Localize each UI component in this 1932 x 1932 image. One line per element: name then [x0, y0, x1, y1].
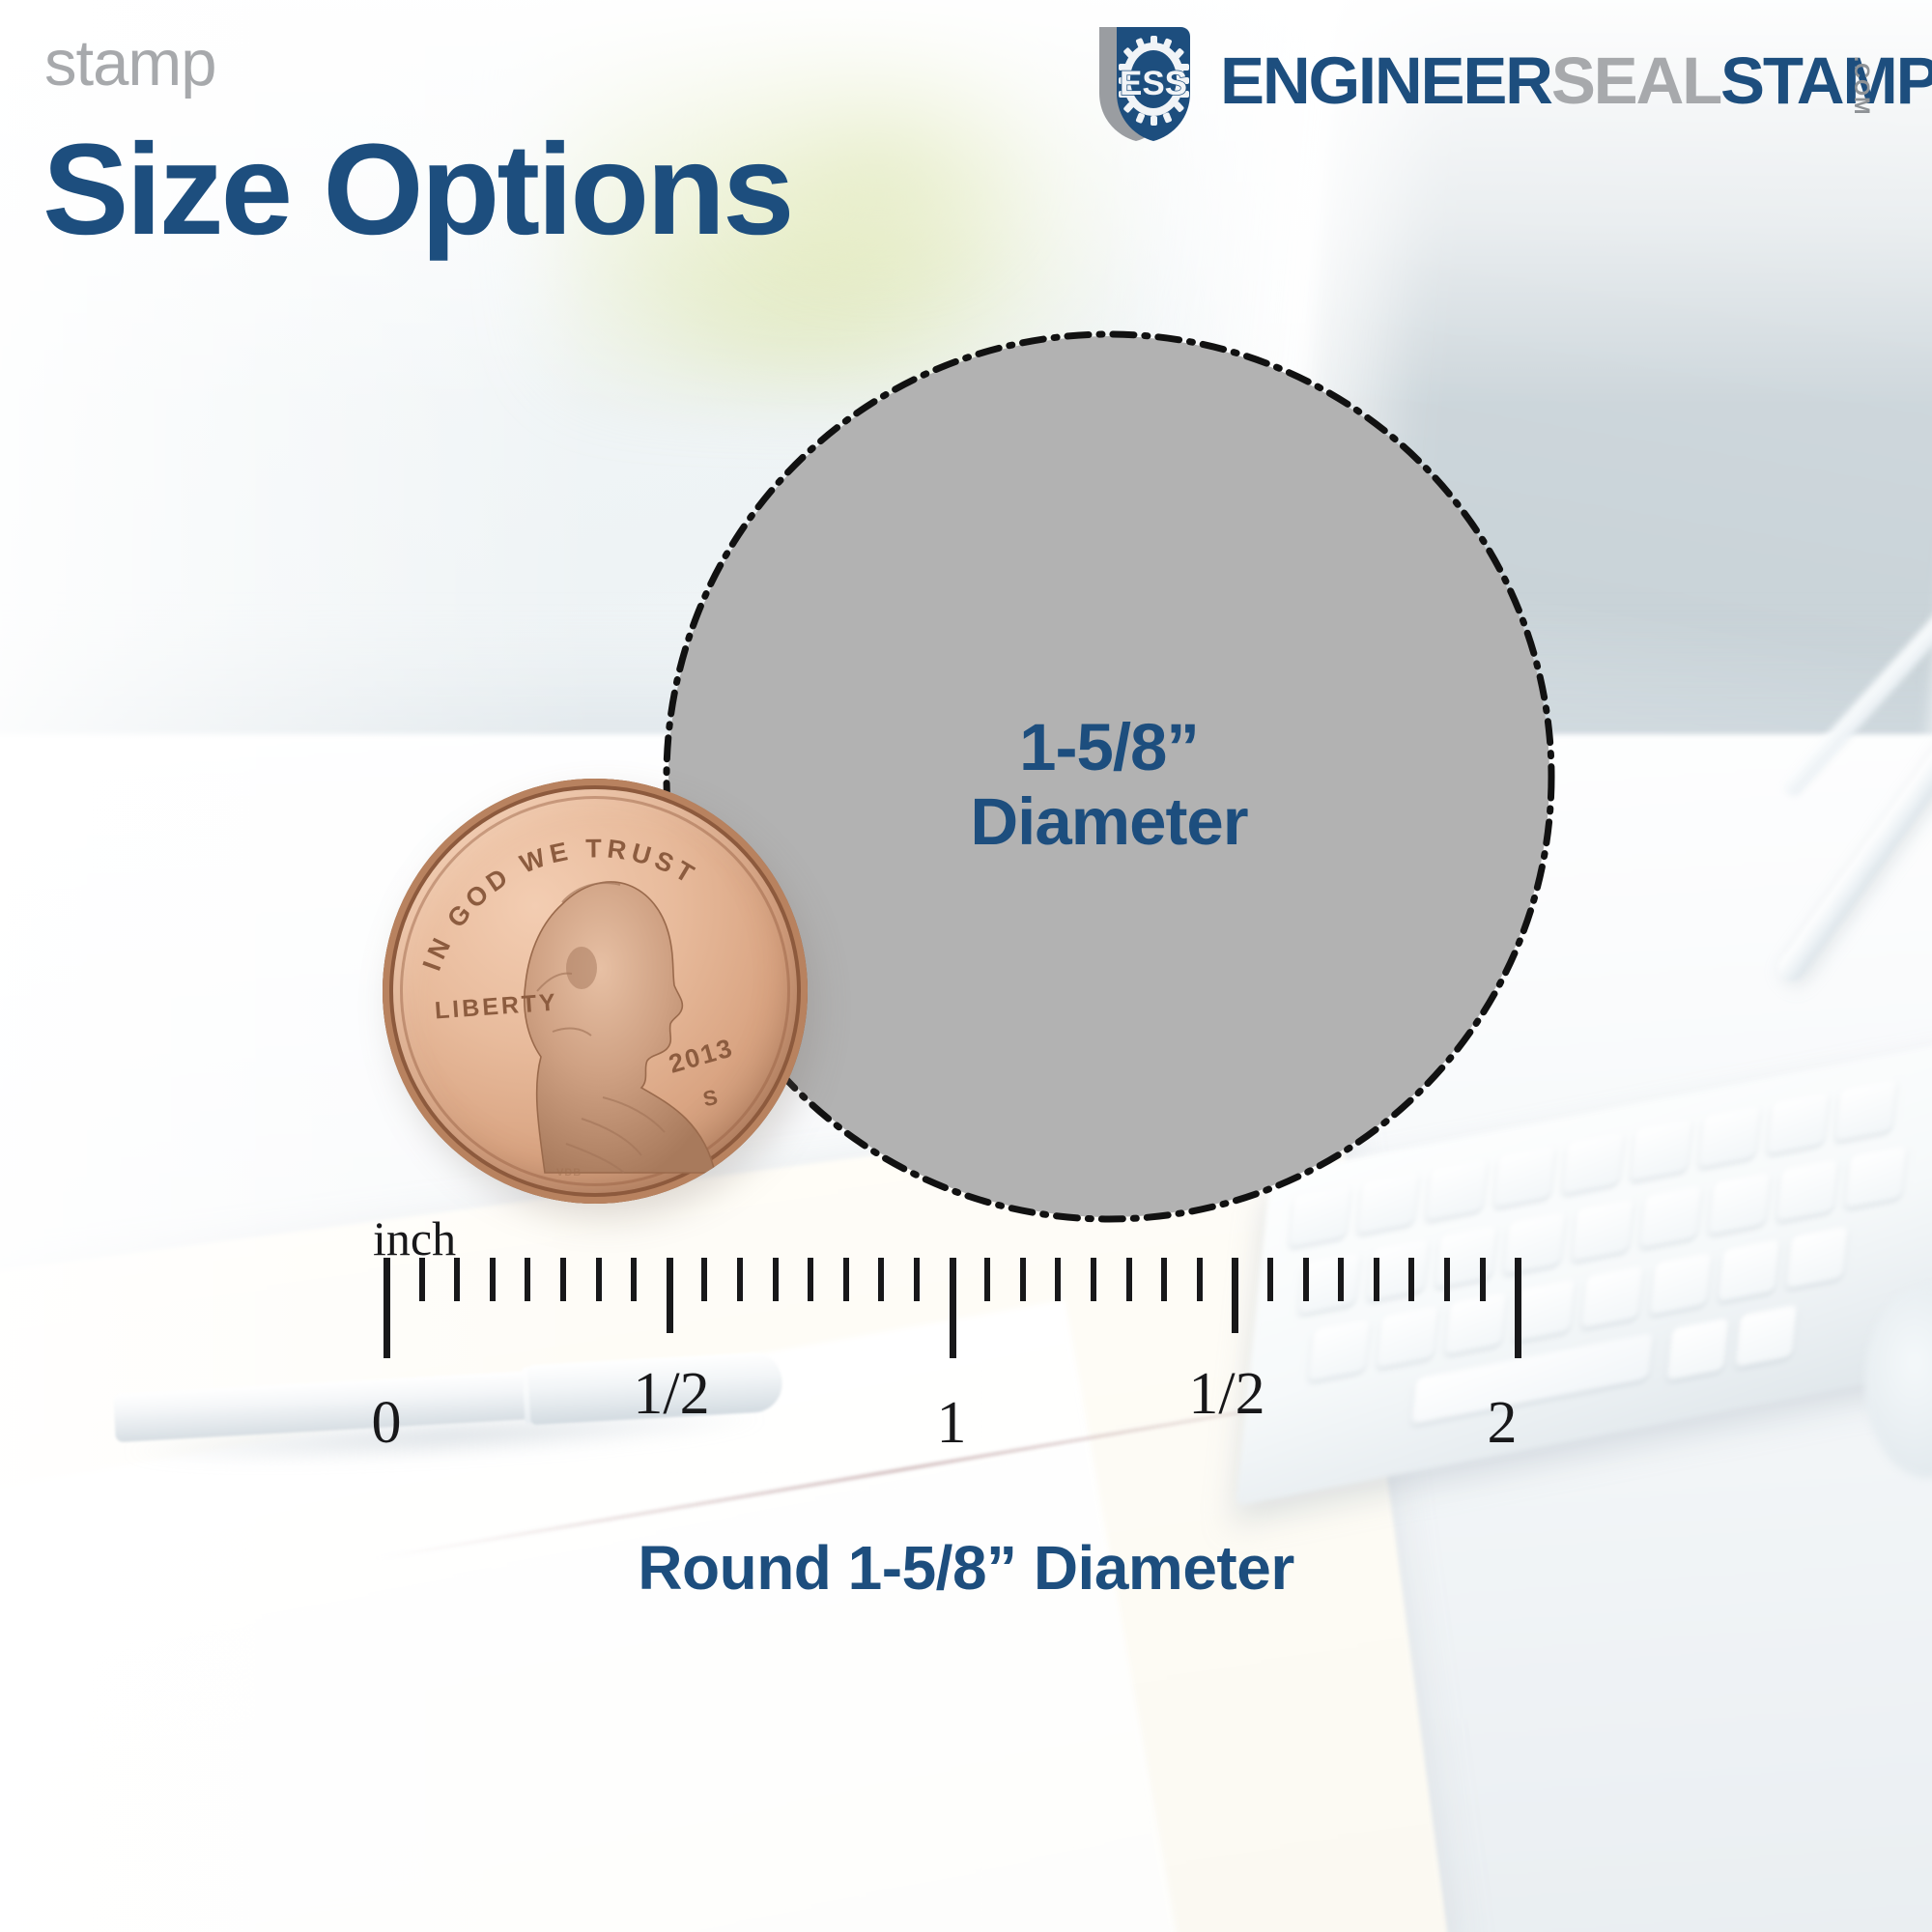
ruler-tick-minor: [808, 1258, 813, 1301]
ruler-tick-minor: [1091, 1258, 1096, 1301]
ruler-tick-minor: [1197, 1258, 1203, 1301]
page-kicker: stamp: [44, 31, 215, 96]
brand-wordmark: ENGINEERSEALSTAMPS: [1220, 47, 1932, 114]
ruler-tick-major: [384, 1258, 390, 1358]
ruler-tick-minor: [596, 1258, 602, 1301]
ess-gear-shield-icon: ESS: [1090, 21, 1213, 145]
ruler-label: 1/2: [633, 1364, 709, 1424]
ruler-tick-minor: [490, 1258, 496, 1301]
ruler-tick-minor: [878, 1258, 884, 1301]
ruler-tick-major: [950, 1258, 956, 1358]
ruler-tick-minor: [1267, 1258, 1273, 1301]
brand-tld: .COM: [1849, 56, 1874, 115]
brand-word-seal: SEAL: [1551, 43, 1720, 118]
ruler-tick-major: [1515, 1258, 1521, 1358]
penny-designer-initials: VDB: [556, 1167, 582, 1179]
ruler-tick-minor: [701, 1258, 707, 1301]
svg-text:ESS: ESS: [1120, 65, 1187, 102]
ruler-tick-minor: [1055, 1258, 1061, 1301]
ruler-tick-minor: [984, 1258, 990, 1301]
ruler-label: 2: [1488, 1393, 1518, 1453]
ruler-label: 1/2: [1188, 1364, 1264, 1424]
inch-ruler: 01/211/22: [0, 1198, 1932, 1488]
ruler-unit-label: inch: [373, 1210, 456, 1266]
brand-word-engineer: ENGINEER: [1220, 43, 1551, 118]
ruler-tick-minor: [843, 1258, 849, 1301]
ruler-tick-minor: [1126, 1258, 1132, 1301]
penny-reference-coin: IN GOD WE TRUST LIBERTY 2013 S VDB: [383, 779, 808, 1204]
ruler-tick-minor: [1303, 1258, 1309, 1301]
ruler-tick-minor: [1374, 1258, 1379, 1301]
size-caption: Round 1-5/8” Diameter: [0, 1532, 1932, 1604]
size-options-graphic: stamp Size Options: [0, 0, 1932, 1932]
ruler-tick-minor: [1480, 1258, 1486, 1301]
ruler-tick-minor: [631, 1258, 637, 1301]
ruler-tick-minor: [773, 1258, 779, 1301]
ruler-tick-mid: [1232, 1258, 1238, 1333]
ruler-tick-minor: [914, 1258, 920, 1301]
ruler-tick-minor: [1338, 1258, 1344, 1301]
brand-logo[interactable]: ESS ENGINEERSEALSTAMPS .COM: [1090, 21, 1911, 145]
ruler-tick-minor: [525, 1258, 530, 1301]
ruler-tick-minor: [1020, 1258, 1026, 1301]
ruler-tick-minor: [1444, 1258, 1450, 1301]
brand-word-stamps: STAMPS: [1720, 43, 1932, 118]
ruler-tick-minor: [560, 1258, 566, 1301]
ruler-label: 0: [372, 1393, 402, 1453]
ruler-label: 1: [937, 1393, 967, 1453]
ruler-tick-minor: [737, 1258, 743, 1301]
ruler-tick-minor: [1161, 1258, 1167, 1301]
ruler-tick-mid: [667, 1258, 673, 1333]
page-title: Size Options: [43, 126, 792, 255]
ruler-tick-minor: [1408, 1258, 1414, 1301]
penny-engraving: IN GOD WE TRUST: [383, 779, 808, 1204]
